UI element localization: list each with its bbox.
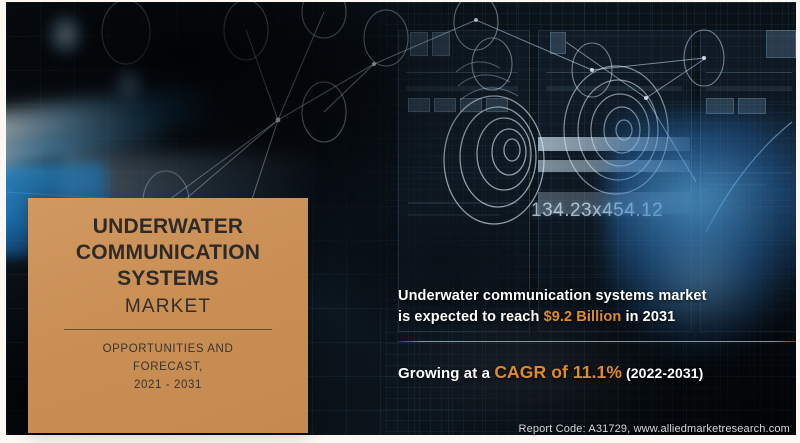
title-divider <box>64 329 272 330</box>
statement-divider <box>398 341 796 342</box>
report-subtitle: OPPORTUNITIES AND FORECAST, 2021 - 2031 <box>42 340 294 394</box>
report-title: UNDERWATER COMMUNICATION SYSTEMS <box>42 214 294 292</box>
statement-suffix: in 2031 <box>621 309 675 325</box>
statement-prefix: is expected to reach <box>398 309 544 325</box>
report-title-line-1: UNDERWATER <box>42 214 294 240</box>
report-title-line-3: SYSTEMS <box>42 266 294 292</box>
report-subtitle-line-3: 2021 - 2031 <box>42 376 294 394</box>
cagr-highlight: CAGR of 11.1% <box>494 362 622 382</box>
market-value-statement-line-1: Underwater communication systems market <box>398 286 796 307</box>
market-value-statement-line-2: is expected to reach $9.2 Billion in 203… <box>398 307 796 328</box>
report-title-line-2: COMMUNICATION <box>42 240 294 266</box>
cagr-period: (2022-2031) <box>622 365 703 381</box>
market-value-highlight: $9.2 Billion <box>544 309 622 325</box>
market-value-statement: Underwater communication systems market … <box>398 286 796 328</box>
report-title-card: UNDERWATER COMMUNICATION SYSTEMS MARKET … <box>28 198 308 433</box>
market-statement-block: Underwater communication systems market … <box>398 286 796 383</box>
cagr-prefix: Growing at a <box>398 365 494 382</box>
report-footer: Report Code: A31729, www.alliedmarketres… <box>519 423 790 435</box>
cagr-statement: Growing at a CAGR of 11.1% (2022-2031) <box>398 362 796 383</box>
market-report-infographic: 134.23x454.12 UNDERWATER COMMUNICATION S… <box>0 0 800 443</box>
report-market-label: MARKET <box>42 293 294 320</box>
report-subtitle-line-1: OPPORTUNITIES AND <box>42 340 294 358</box>
report-subtitle-line-2: FORECAST, <box>42 358 294 376</box>
report-title-card-content: UNDERWATER COMMUNICATION SYSTEMS MARKET … <box>28 198 308 433</box>
